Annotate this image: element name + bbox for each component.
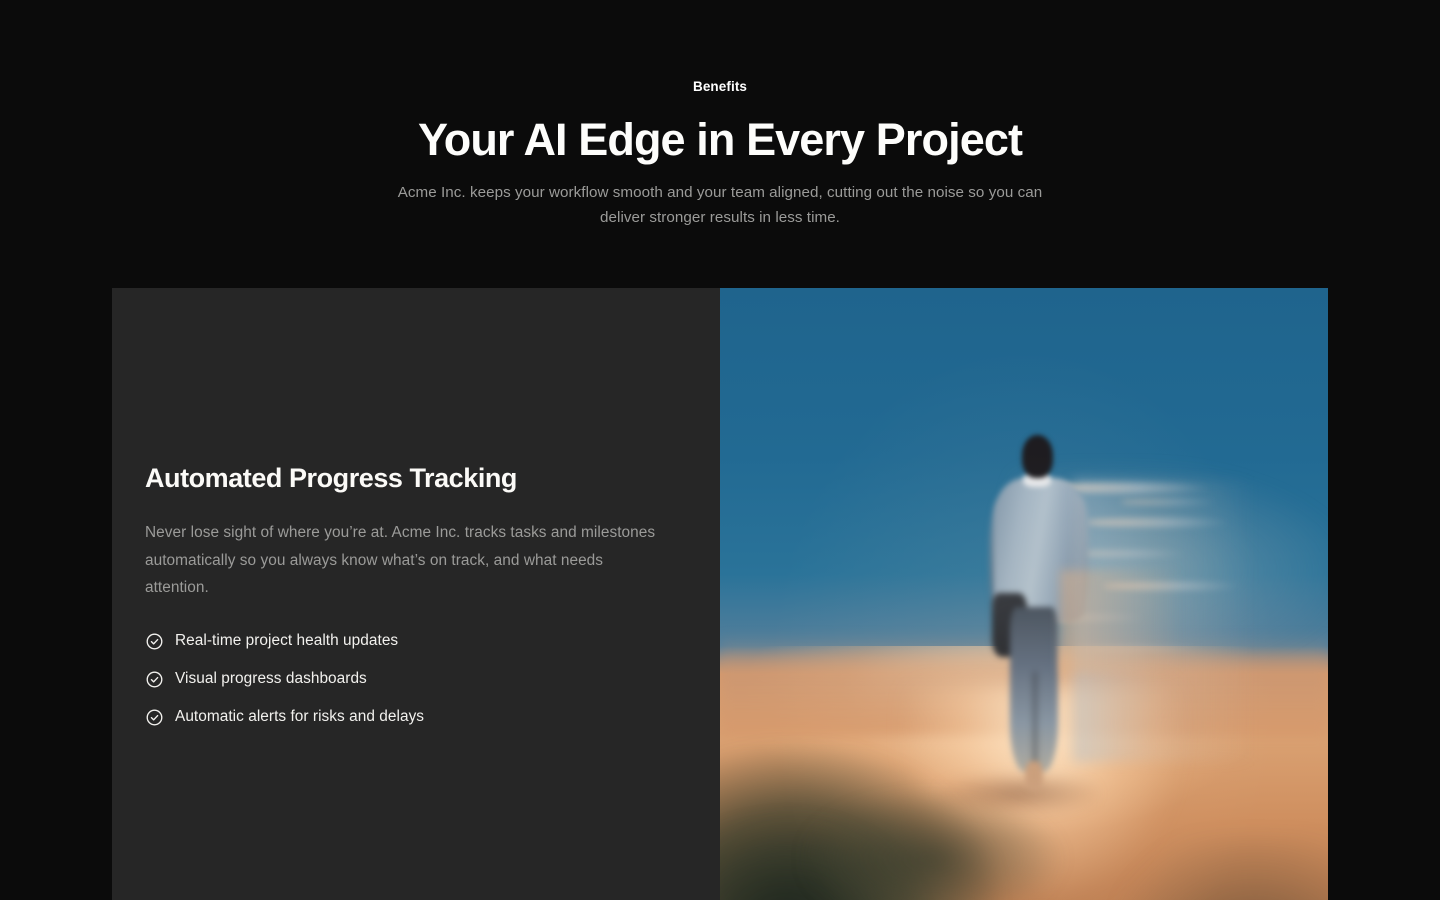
feature-bullet-list: Real-time project health updates Visual … <box>145 632 686 727</box>
list-item-label: Visual progress dashboards <box>175 670 367 688</box>
page-root: Benefits Your AI Edge in Every Project A… <box>0 0 1440 900</box>
feature-title: Automated Progress Tracking <box>145 462 686 494</box>
feature-card: Automated Progress Tracking Never lose s… <box>112 288 1328 900</box>
check-circle-icon <box>145 708 164 727</box>
list-item: Visual progress dashboards <box>145 670 686 689</box>
feature-card-content: Automated Progress Tracking Never lose s… <box>112 288 720 900</box>
photo-figure-head <box>1022 435 1053 478</box>
list-item: Real-time project health updates <box>145 632 686 651</box>
section-eyebrow: Benefits <box>0 80 1440 94</box>
feature-card-media <box>720 288 1328 900</box>
photo-vegetation-right <box>1121 838 1328 900</box>
check-circle-icon <box>145 632 164 651</box>
list-item-label: Real-time project health updates <box>175 632 398 650</box>
section-header: Benefits Your AI Edge in Every Project A… <box>0 0 1440 230</box>
check-circle-icon <box>145 670 164 689</box>
photo-motion-smear <box>1060 570 1182 672</box>
blurred-figure-walking-photo <box>720 288 1328 900</box>
section-subheadline: Acme Inc. keeps your workflow smooth and… <box>380 181 1060 230</box>
feature-description: Never lose sight of where you’re at. Acm… <box>145 519 669 601</box>
list-item: Automatic alerts for risks and delays <box>145 708 686 727</box>
photo-vegetation-mid <box>805 774 1085 900</box>
page-title: Your AI Edge in Every Project <box>0 116 1440 164</box>
list-item-label: Automatic alerts for risks and delays <box>175 708 424 726</box>
